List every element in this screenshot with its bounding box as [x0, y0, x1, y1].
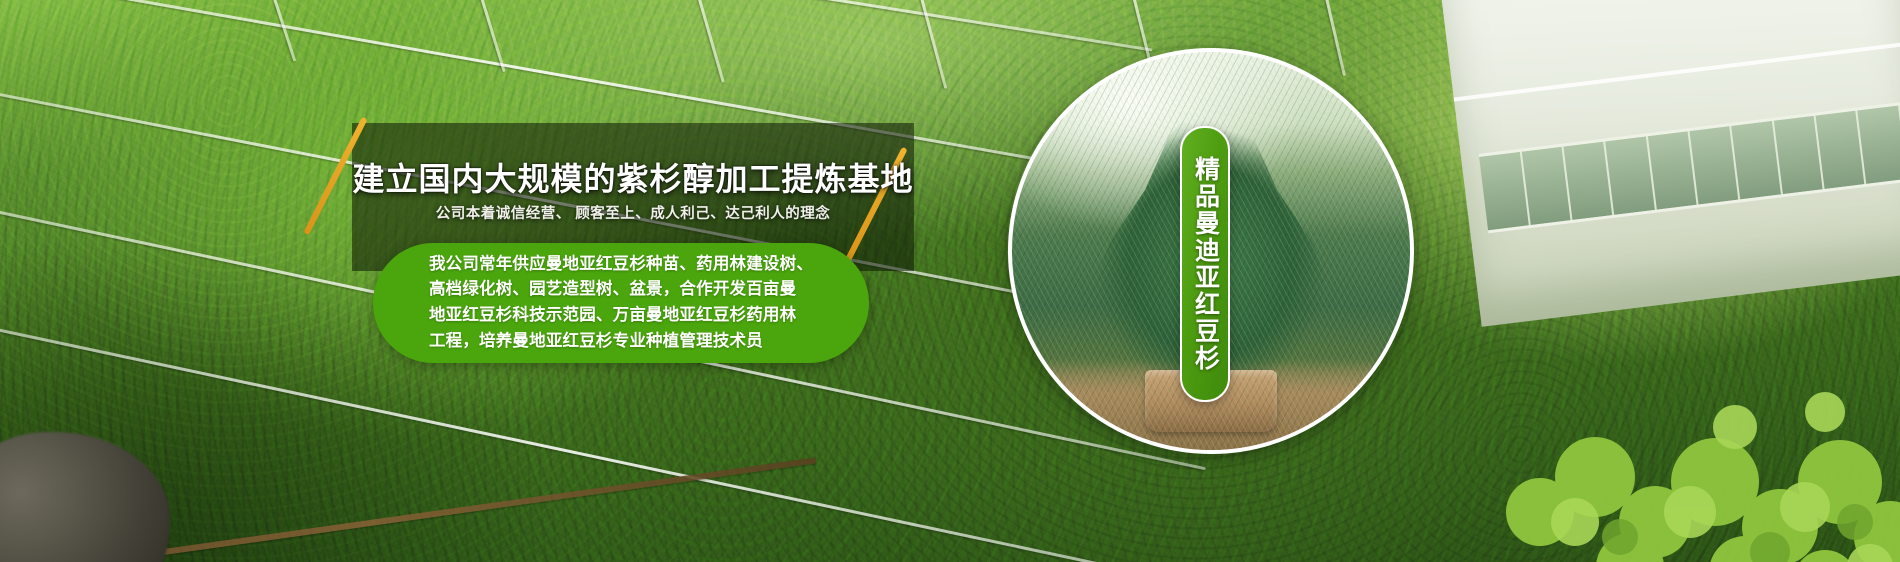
description-line: 地亚红豆杉科技示范园、万亩曼地亚红豆杉药用林: [429, 303, 813, 329]
description-line: 我公司常年供应曼地亚红豆杉种苗、药用林建设树、: [429, 252, 813, 278]
description-box: 我公司常年供应曼地亚红豆杉种苗、药用林建设树、 高档绿化树、园艺造型树、盆景，合…: [373, 243, 869, 363]
promo-banner: 建立国内大规模的紫杉醇加工提炼基地 公司本着诚信经营、 顾客至上、成人利己、达己…: [0, 0, 1900, 562]
page-subtitle: 公司本着诚信经营、 顾客至上、成人利己、达己利人的理念: [352, 202, 914, 223]
description-text: 我公司常年供应曼地亚红豆杉种苗、药用林建设树、 高档绿化树、园艺造型树、盆景，合…: [403, 252, 839, 355]
product-label-pill: 精品曼迪亚红豆杉: [1180, 126, 1230, 402]
description-line: 高档绿化树、园艺造型树、盆景，合作开发百亩曼: [429, 277, 813, 303]
greenhouse-icon: [1442, 0, 1900, 327]
page-title: 建立国内大规模的紫杉醇加工提炼基地: [352, 160, 914, 198]
description-line: 工程，培养曼地亚红豆杉专业种植管理技术员: [429, 329, 813, 355]
product-label-text: 精品曼迪亚红豆杉: [1193, 156, 1218, 372]
